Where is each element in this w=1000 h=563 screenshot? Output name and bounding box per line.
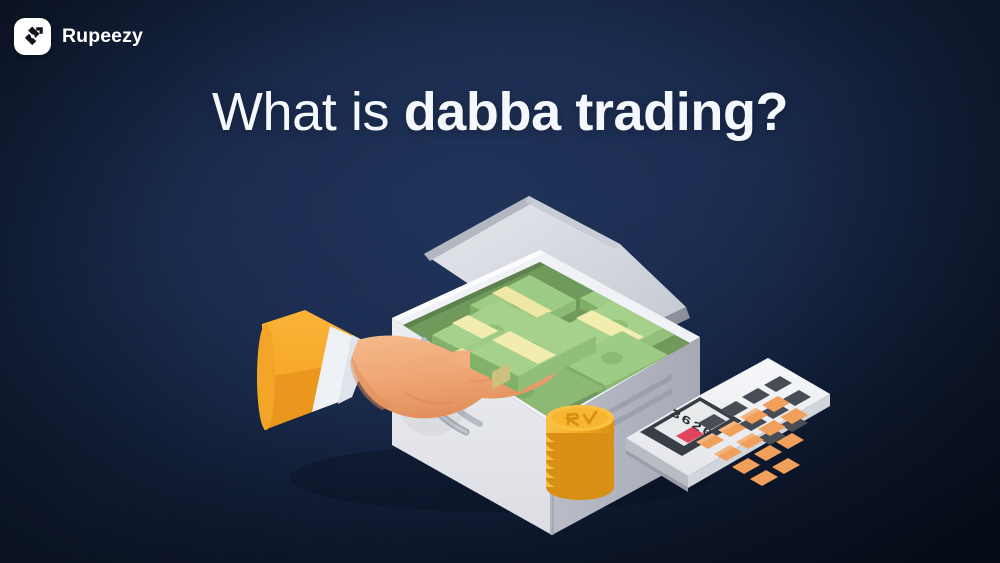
brand-name: Rupeezy <box>62 25 143 48</box>
poster-canvas: Rupeezy What is dabba trading? <box>0 0 1000 563</box>
page-title: What is dabba trading? <box>0 84 1000 141</box>
page-title-lead: What is <box>212 82 404 142</box>
page-title-emphasis: dabba trading? <box>404 82 788 142</box>
coin-stack[interactable] <box>546 405 614 500</box>
brand-logo[interactable]: Rupeezy <box>14 18 143 55</box>
rupeezy-logo-icon <box>14 18 51 55</box>
